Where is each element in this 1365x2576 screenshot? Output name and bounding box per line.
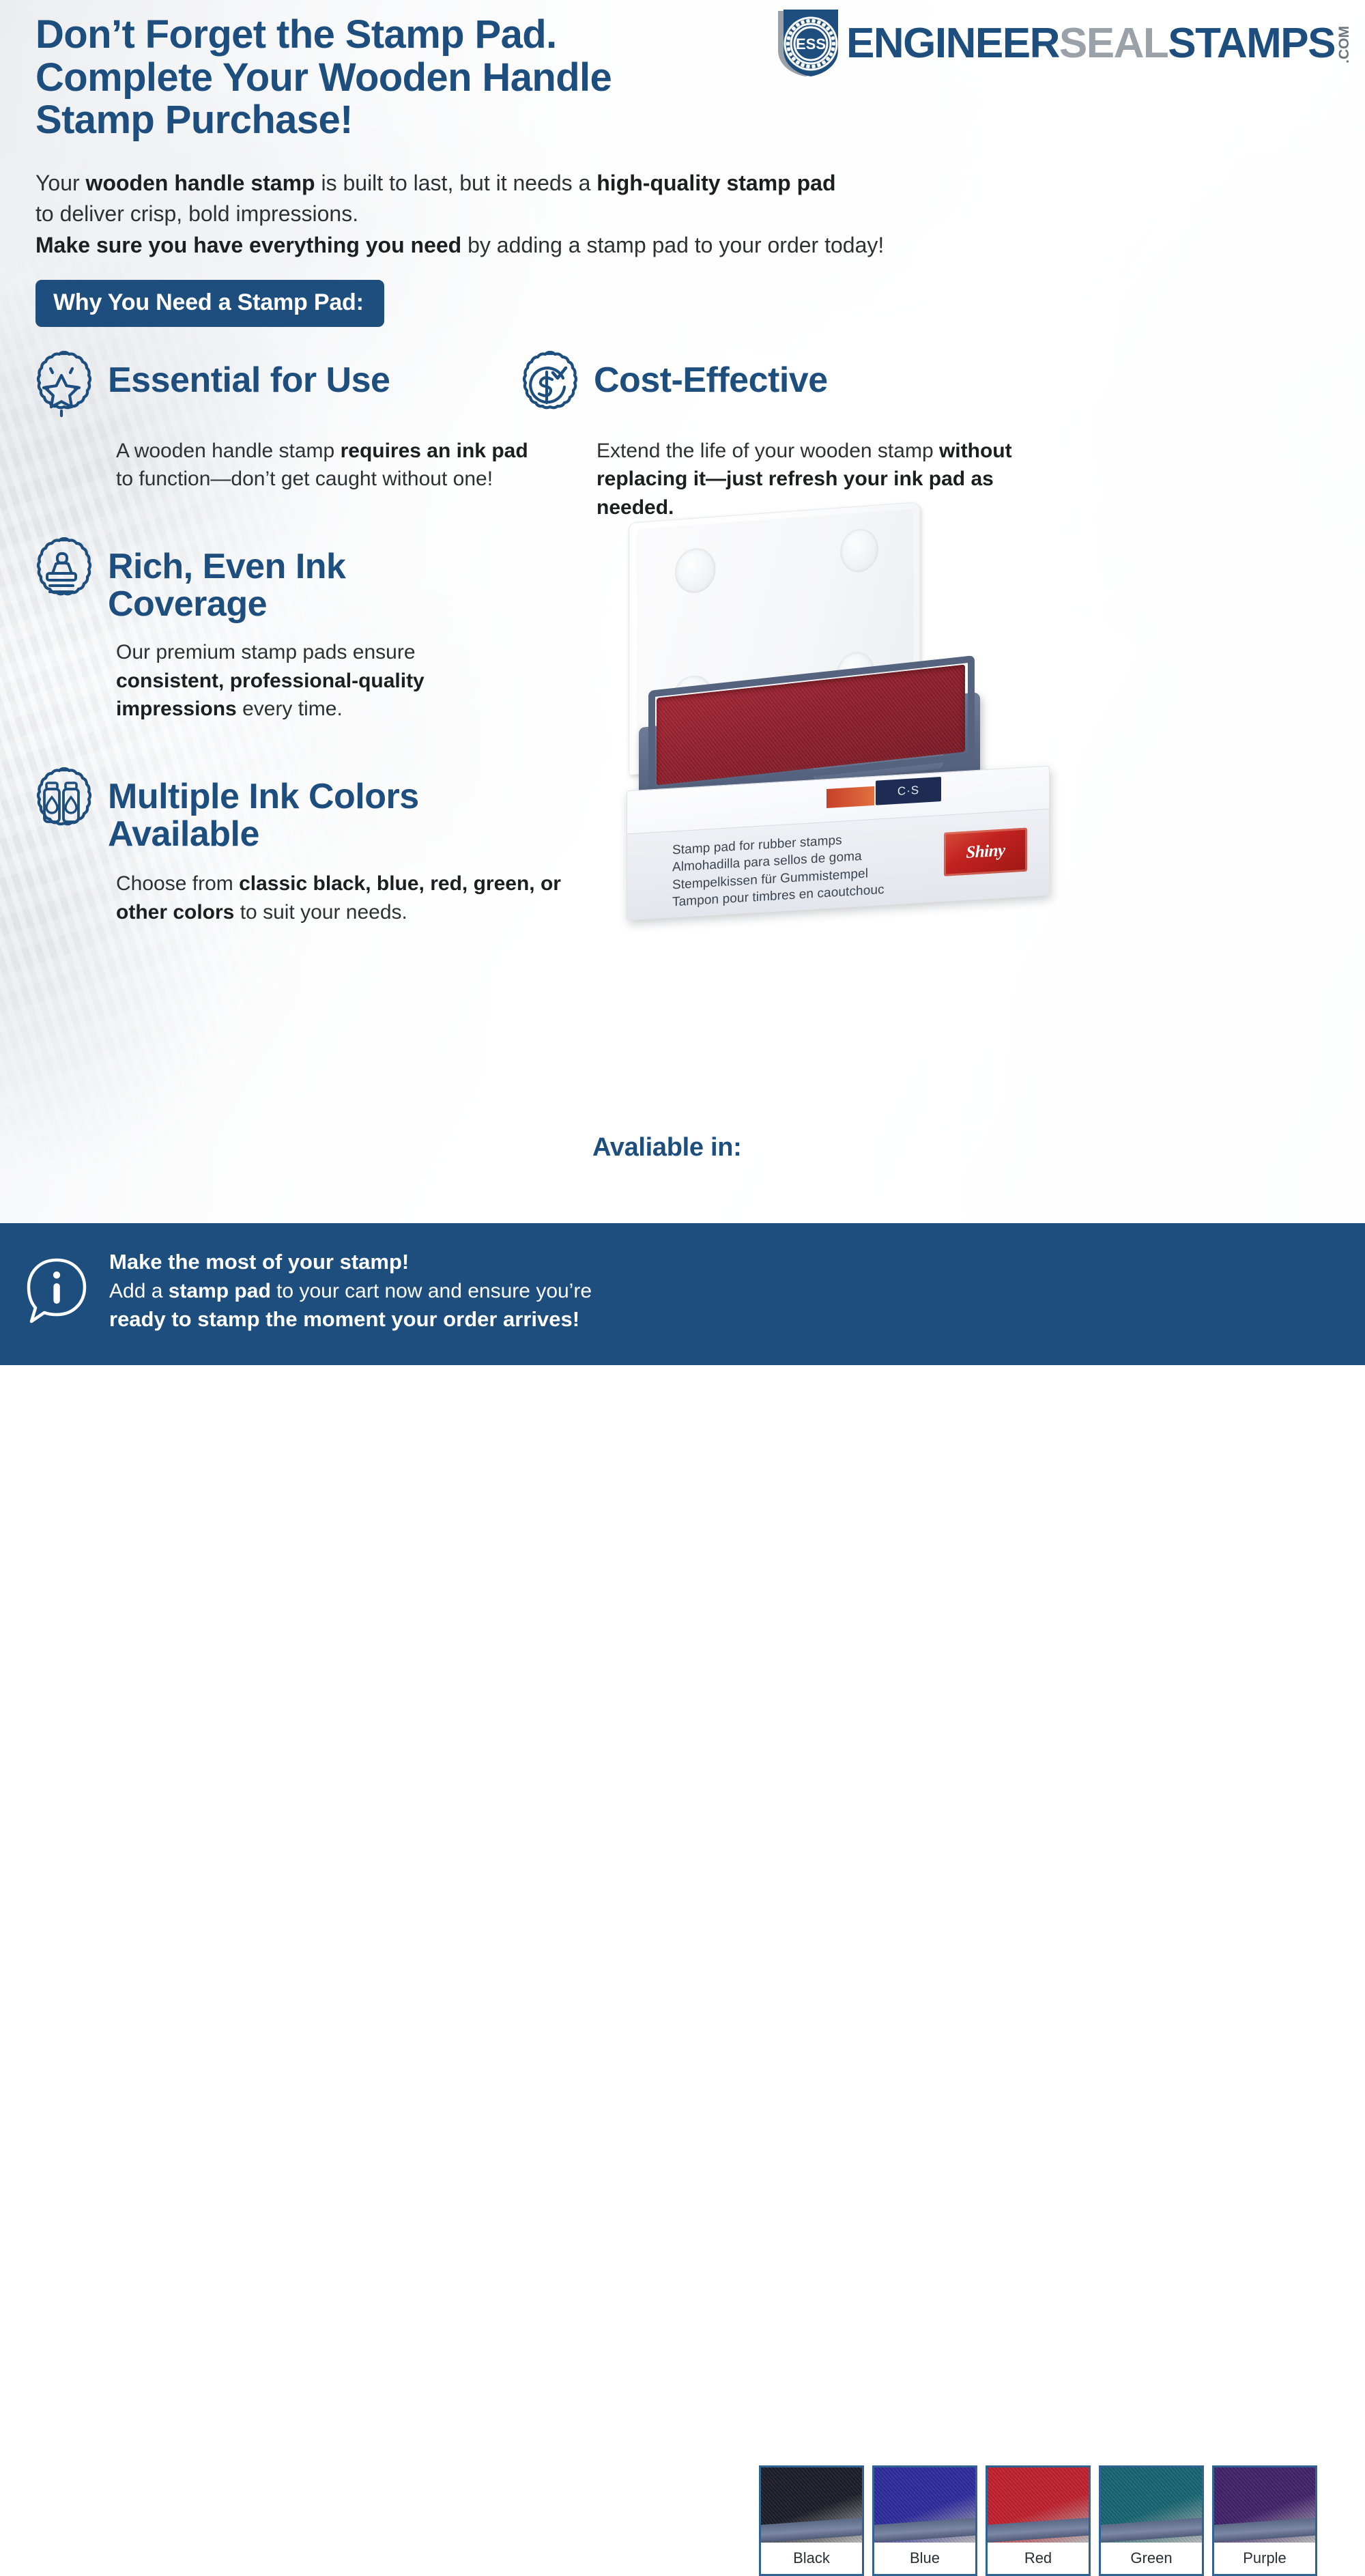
swatch-color-area bbox=[874, 2467, 975, 2543]
cta-line-1: Make the most of your stamp! bbox=[109, 1248, 628, 1277]
star-badge-icon bbox=[27, 349, 96, 425]
brand-logo[interactable]: ESS ENGINEER SEAL STAMPS .COM bbox=[767, 10, 1351, 78]
box-color-tab-orange bbox=[827, 786, 874, 808]
intro-paragraph: Your wooden handle stamp is built to las… bbox=[35, 168, 950, 261]
color-swatch-red[interactable]: Red bbox=[986, 2465, 1091, 2576]
headline-line-1: Don’t Forget the Stamp Pad. bbox=[35, 14, 718, 57]
feature-body-text-2: to suit your needs. bbox=[234, 901, 407, 924]
page-title: Don’t Forget the Stamp Pad. Complete You… bbox=[35, 14, 718, 142]
feature-body-text: Choose from bbox=[116, 872, 239, 895]
product-box: C·S Stamp pad for rubber stamps Almohadi… bbox=[627, 766, 1050, 921]
cta-line-2: Add a stamp pad to your cart now and ens… bbox=[109, 1277, 628, 1305]
feature-body-text-2: every time. bbox=[237, 698, 343, 720]
available-in-label: Avaliable in: bbox=[592, 1133, 742, 1162]
shiny-logo-text: Shiny bbox=[966, 841, 1005, 862]
info-speech-bubble-icon bbox=[20, 1250, 93, 1332]
color-swatch-blue[interactable]: Blue bbox=[872, 2465, 977, 2576]
logo-word-stamps: STAMPS bbox=[1168, 23, 1335, 65]
color-swatch-purple[interactable]: Purple bbox=[1212, 2465, 1317, 2576]
logo-word-engineer: ENGINEER bbox=[846, 23, 1059, 65]
intro-text-3: by adding a stamp pad to your order toda… bbox=[461, 233, 884, 257]
feature-body: Choose from classic black, blue, red, gr… bbox=[116, 870, 566, 926]
feature-body-text-2: to function—don’t get caught without one… bbox=[116, 468, 493, 490]
intro-emphasis-2: high-quality stamp pad bbox=[597, 171, 835, 195]
headline-line-2: Complete Your Wooden Handle bbox=[35, 57, 718, 100]
intro-line-3: Make sure you have everything you need b… bbox=[35, 230, 950, 261]
swatch-ink-texture bbox=[1214, 2467, 1315, 2543]
lid-dimple bbox=[840, 528, 878, 573]
intro-text: Your bbox=[35, 171, 86, 195]
color-swatch-list: BlackBlueRedGreenPurple bbox=[759, 2465, 1317, 2576]
swatch-ink-texture bbox=[761, 2467, 862, 2543]
intro-emphasis-1: wooden handle stamp bbox=[86, 171, 315, 195]
feature-title: Multiple Ink Colors Available bbox=[108, 766, 497, 853]
feature-multiple-ink-colors: Multiple Ink Colors Available Choose fro… bbox=[27, 766, 573, 926]
rubber-stamp-badge-icon bbox=[27, 536, 96, 611]
feature-body: Our premium stamp pads ensure consistent… bbox=[116, 638, 505, 723]
dollar-check-badge-icon bbox=[513, 349, 581, 425]
feature-title: Rich, Even Ink Coverage bbox=[108, 536, 429, 623]
swatch-label: Purple bbox=[1214, 2543, 1315, 2574]
ink-bottles-badge-icon bbox=[27, 766, 96, 841]
color-swatch-black[interactable]: Black bbox=[759, 2465, 864, 2576]
cta-emphasis: stamp pad bbox=[169, 1280, 271, 1302]
headline-line-3: Stamp Purchase! bbox=[35, 99, 718, 142]
feature-body-text: Extend the life of your wooden stamp bbox=[597, 440, 939, 462]
product-photo-stamp-pad: C·S Stamp pad for rubber stamps Almohadi… bbox=[601, 505, 1119, 935]
swatch-ink-texture bbox=[1101, 2467, 1202, 2543]
swatch-color-area bbox=[761, 2467, 862, 2543]
cta-text-a: Add a bbox=[109, 1280, 169, 1302]
swatch-label: Black bbox=[761, 2543, 862, 2574]
swatch-label: Red bbox=[988, 2543, 1089, 2574]
cta-line-3: ready to stamp the moment your order arr… bbox=[109, 1305, 628, 1334]
intro-line-1: Your wooden handle stamp is built to las… bbox=[35, 168, 950, 199]
intro-text-2: is built to last, but it needs a bbox=[315, 171, 597, 195]
swatch-label: Blue bbox=[874, 2543, 975, 2574]
shiny-brand-logo: Shiny bbox=[944, 828, 1027, 876]
feature-title: Cost-Effective bbox=[594, 349, 828, 399]
feature-title: Essential for Use bbox=[108, 349, 390, 399]
logo-wordmark: ENGINEER SEAL STAMPS .COM bbox=[846, 23, 1351, 65]
lid-dimple bbox=[675, 547, 716, 595]
swatch-color-area bbox=[988, 2467, 1089, 2543]
cta-text-c: to your cart now and ensure you’re bbox=[271, 1280, 592, 1302]
swatch-ink-texture bbox=[988, 2467, 1089, 2543]
section-label-why-stamp-pad: Why You Need a Stamp Pad: bbox=[35, 280, 384, 327]
ess-badge-text: ESS bbox=[796, 35, 826, 53]
cta-text: Make the most of your stamp! Add a stamp… bbox=[109, 1248, 628, 1334]
color-swatch-green[interactable]: Green bbox=[1099, 2465, 1204, 2576]
feature-body-emphasis: requires an ink pad bbox=[341, 440, 528, 462]
feature-title-line-2: Coverage bbox=[108, 586, 429, 623]
swatch-color-area bbox=[1214, 2467, 1315, 2543]
feature-title-line-2: Available bbox=[108, 816, 497, 853]
swatch-ink-texture bbox=[874, 2467, 975, 2543]
swatch-label: Green bbox=[1101, 2543, 1202, 2574]
feature-cost-effective: Cost-Effective Extend the life of your w… bbox=[513, 349, 1046, 521]
logo-word-seal: SEAL bbox=[1059, 23, 1168, 65]
feature-body-text: A wooden handle stamp bbox=[116, 440, 341, 462]
feature-body: A wooden handle stamp requires an ink pa… bbox=[116, 437, 532, 493]
swatch-color-area bbox=[1101, 2467, 1202, 2543]
feature-essential-for-use: Essential for Use A wooden handle stamp … bbox=[27, 349, 546, 493]
infographic-page: Don’t Forget the Stamp Pad. Complete You… bbox=[0, 0, 1365, 1365]
ess-shield-gear-icon: ESS bbox=[767, 8, 844, 79]
box-code-tab: C·S bbox=[876, 777, 941, 805]
feature-title-line-1: Multiple Ink Colors bbox=[108, 778, 497, 816]
feature-rich-even-ink-coverage: Rich, Even Ink Coverage Our premium stam… bbox=[27, 536, 546, 723]
logo-tld: .COM bbox=[1337, 26, 1351, 63]
intro-line-2: to deliver crisp, bold impressions. bbox=[35, 199, 950, 229]
cta-bar: Make the most of your stamp! Add a stamp… bbox=[0, 1223, 1365, 1365]
feature-body-text: Our premium stamp pads ensure bbox=[116, 641, 416, 663]
feature-title-line-1: Rich, Even Ink bbox=[108, 548, 429, 586]
intro-emphasis-3: Make sure you have everything you need bbox=[35, 233, 461, 257]
